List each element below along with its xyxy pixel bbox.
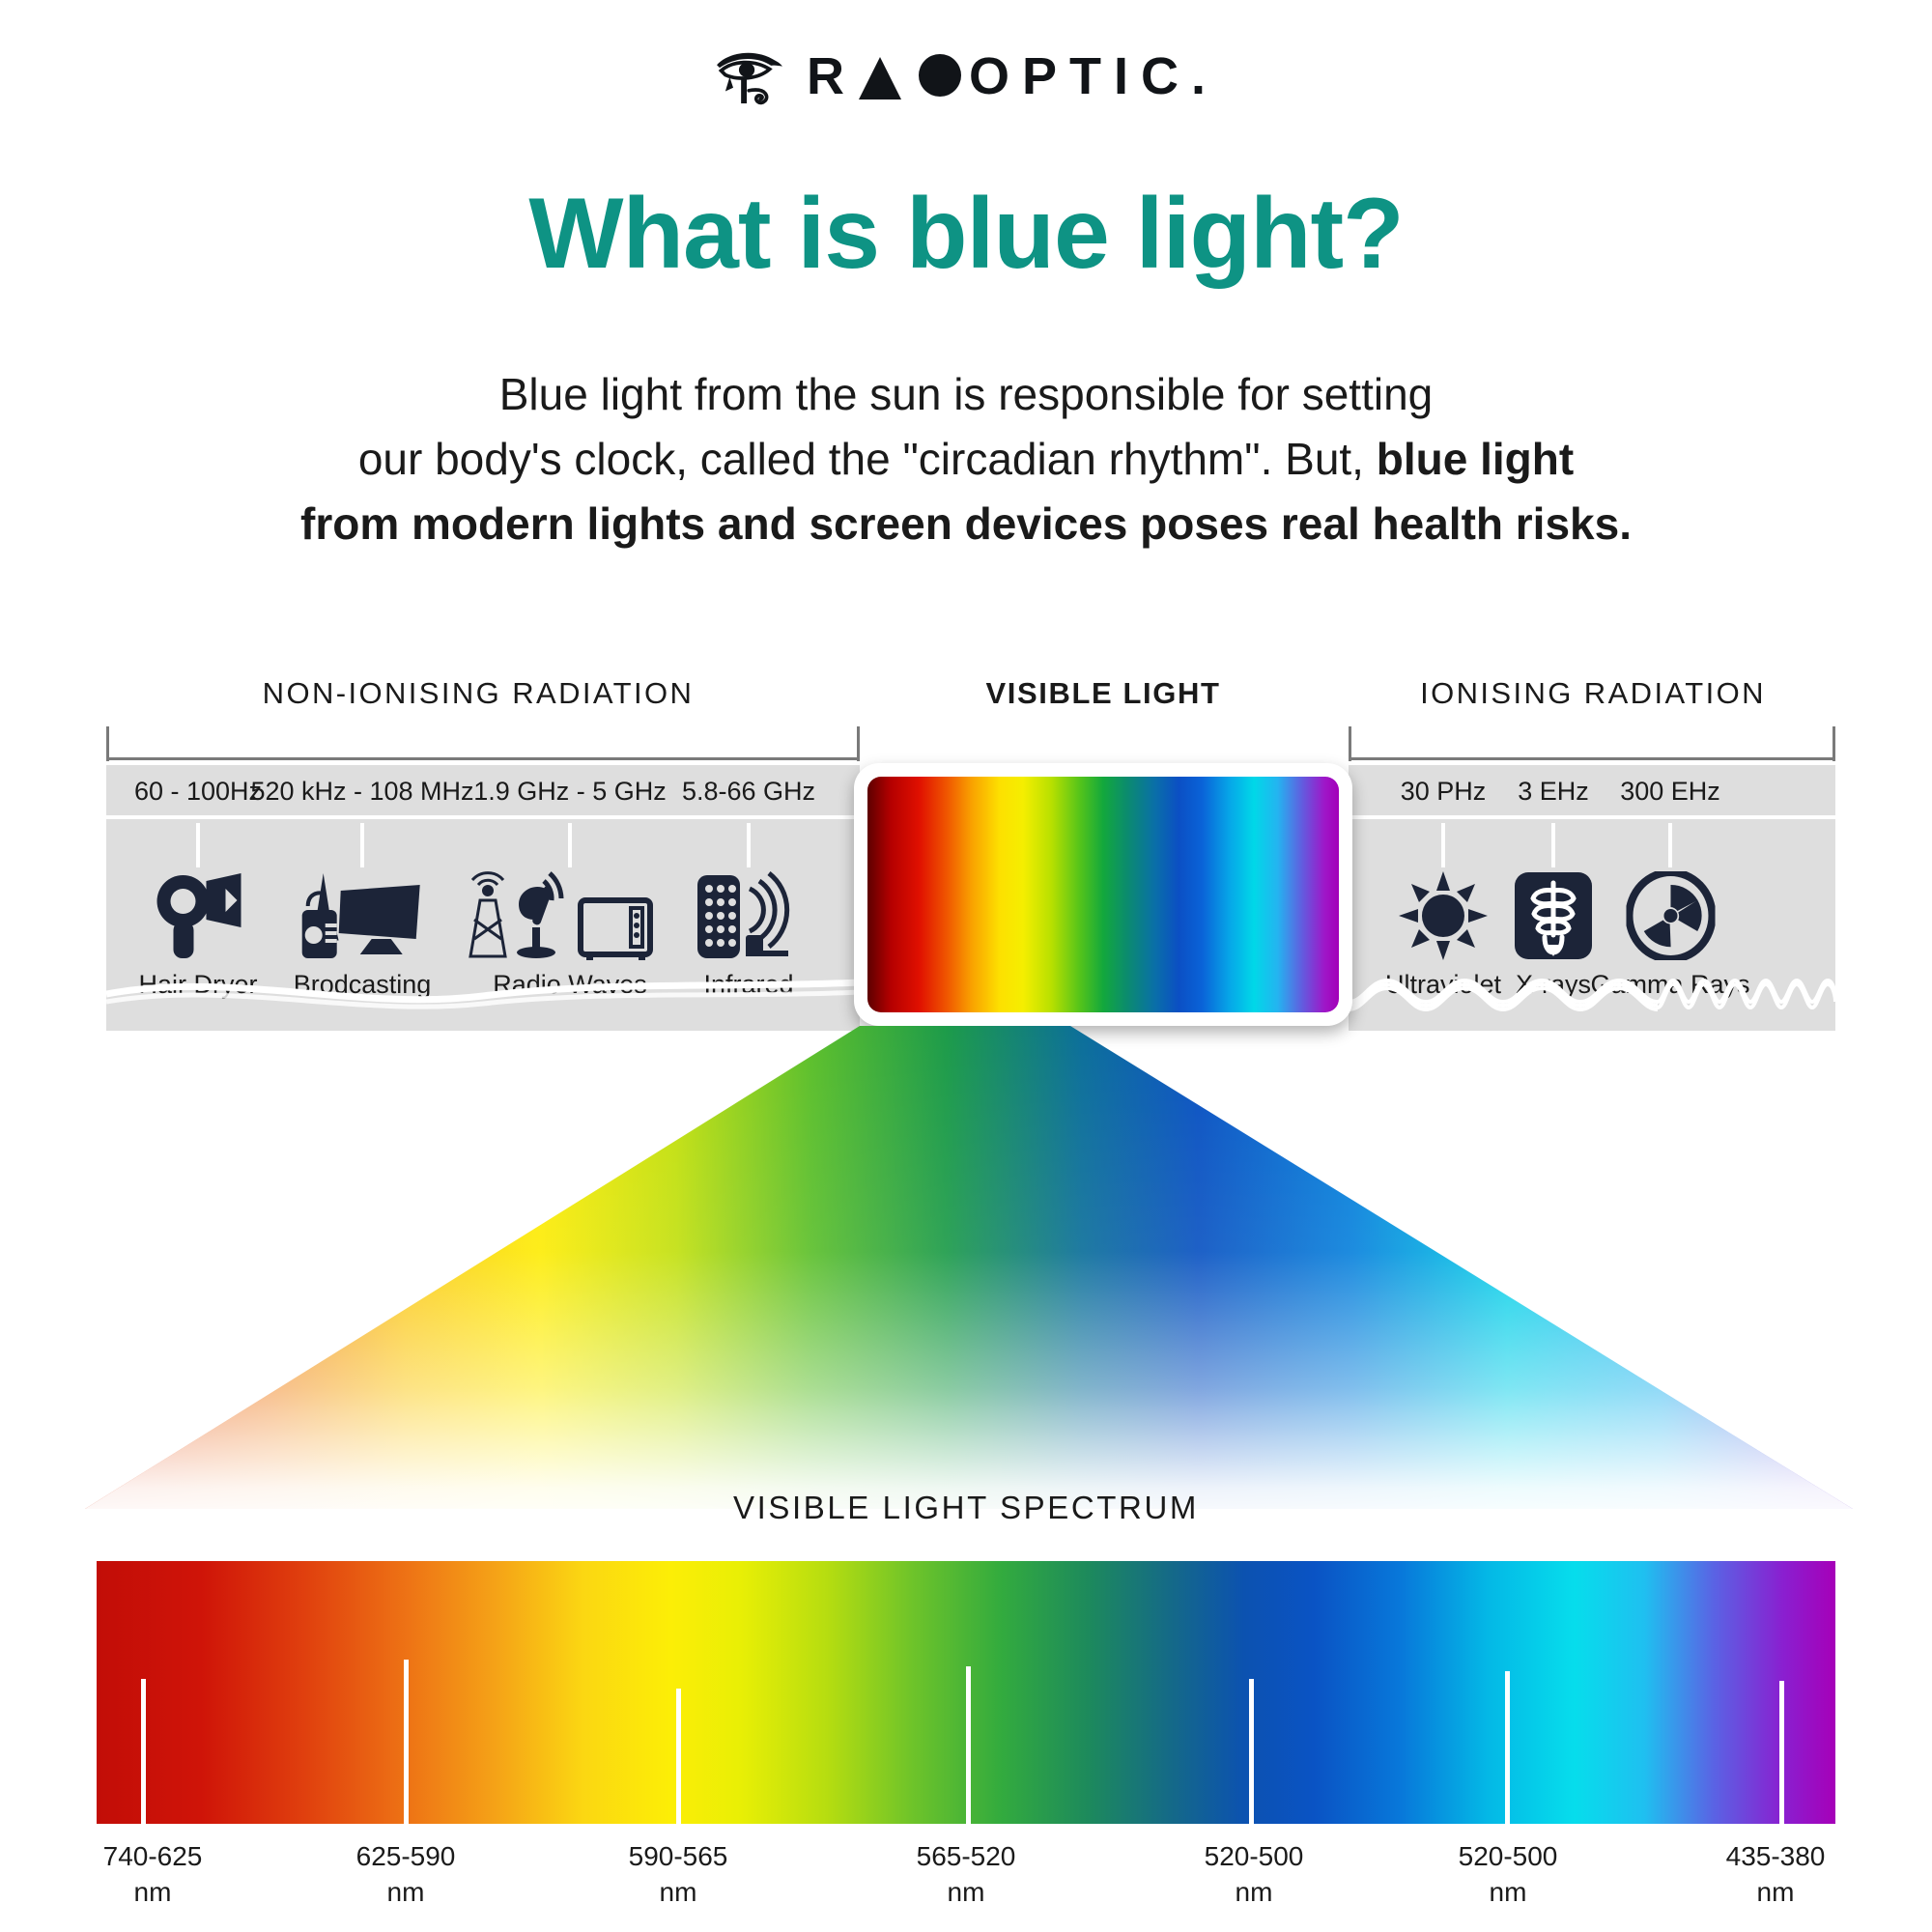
subtitle-line-3: from modern lights and screen devices po… bbox=[300, 498, 1632, 549]
wavelength-unit: nm bbox=[948, 1877, 985, 1907]
brand-logo: ROPTIC. bbox=[0, 46, 1932, 106]
subtitle-line-2b: blue light bbox=[1377, 434, 1574, 484]
brand-name-part2: OPTIC bbox=[969, 50, 1191, 102]
circle-o-icon bbox=[919, 54, 961, 97]
visible-spectrum-title: VISIBLE LIGHT SPECTRUM bbox=[0, 1490, 1932, 1526]
wavelength-range: 590-565 bbox=[629, 1841, 728, 1871]
eye-of-horus-icon bbox=[714, 46, 785, 106]
wavelength-label-5: 520-500nm bbox=[1459, 1839, 1558, 1911]
subtitle-line-1: Blue light from the sun is responsible f… bbox=[499, 369, 1434, 419]
wavelength-unit: nm bbox=[660, 1877, 697, 1907]
hair-dryer-icon bbox=[138, 871, 257, 960]
frequency-label-radio-waves: 1.9 GHz - 5 GHz bbox=[473, 777, 667, 807]
visible-spectrum-bar bbox=[97, 1561, 1835, 1824]
wavelength-label-4: 520-500nm bbox=[1205, 1839, 1304, 1911]
category-label-non-ionising: NON-IONISING RADIATION bbox=[97, 676, 860, 711]
radioactive-icon bbox=[1590, 871, 1749, 960]
wavelength-label-0: 740-625nm bbox=[103, 1839, 203, 1911]
wavelength-range: 520-500 bbox=[1459, 1841, 1558, 1871]
wavelength-range: 520-500 bbox=[1205, 1841, 1304, 1871]
frequency-label-infrared: 5.8-66 GHz bbox=[682, 777, 815, 807]
wavelength-range: 565-520 bbox=[917, 1841, 1016, 1871]
category-label-ionising: IONISING RADIATION bbox=[1350, 676, 1835, 711]
wavelength-range: 740-625 bbox=[103, 1841, 203, 1871]
wavelength-label-6: 435-380nm bbox=[1726, 1839, 1826, 1911]
spectrum-tick bbox=[404, 1660, 409, 1824]
prism-beam bbox=[0, 1026, 1932, 1528]
frequency-label-ultraviolet: 30 PHz bbox=[1401, 777, 1487, 807]
radio-antenna-satellite-microwave-icon bbox=[459, 871, 681, 960]
spectrum-tick bbox=[1249, 1679, 1254, 1824]
non-ionising-panel: 60 - 100Hz 520 kHz - 108 MHz 1.9 GHz - 5… bbox=[106, 765, 860, 1031]
spectrum-tick bbox=[676, 1689, 681, 1824]
wavelength-range: 435-380 bbox=[1726, 1841, 1826, 1871]
category-label-visible-light: VISIBLE LIGHT bbox=[854, 676, 1352, 711]
visible-light-card bbox=[854, 763, 1352, 1026]
wavelength-label-2: 590-565nm bbox=[629, 1839, 728, 1911]
spectrum-tick bbox=[1779, 1681, 1784, 1824]
non-ionising-frequency-strip: 60 - 100Hz 520 kHz - 108 MHz 1.9 GHz - 5… bbox=[106, 765, 860, 819]
short-wavelength-wave-icon bbox=[1349, 955, 1835, 1023]
sun-icon bbox=[1385, 871, 1501, 960]
remote-control-icon bbox=[692, 871, 806, 960]
frequency-label-hair-dryer: 60 - 100Hz bbox=[134, 777, 262, 807]
frequency-label-gamma-rays: 300 EHz bbox=[1620, 777, 1720, 807]
triangle-a-icon bbox=[859, 57, 901, 99]
spectrum-tick bbox=[966, 1666, 971, 1824]
wavelength-label-1: 625-590nm bbox=[356, 1839, 456, 1911]
wavelength-unit: nm bbox=[1236, 1877, 1273, 1907]
page-title: What is blue light? bbox=[0, 184, 1932, 284]
bracket-ionising bbox=[1349, 726, 1835, 761]
long-wavelength-wave-icon bbox=[106, 955, 860, 1023]
wavelength-unit: nm bbox=[1490, 1877, 1527, 1907]
wavelength-label-3: 565-520nm bbox=[917, 1839, 1016, 1911]
bracket-non-ionising bbox=[106, 726, 860, 761]
frequency-label-broadcasting: 520 kHz - 108 MHz bbox=[250, 777, 473, 807]
subtitle-line-2a: our body's clock, called the "circadian … bbox=[358, 434, 1377, 484]
wavelength-unit: nm bbox=[1757, 1877, 1795, 1907]
spectrum-tick bbox=[1505, 1671, 1510, 1824]
xray-spine-icon bbox=[1512, 871, 1595, 960]
brand-name-part2-o bbox=[913, 50, 969, 102]
brand-wordmark: ROPTIC. bbox=[807, 50, 1218, 102]
wavelength-unit: nm bbox=[134, 1877, 172, 1907]
brand-name-part1: R bbox=[807, 50, 857, 102]
wavelength-range: 625-590 bbox=[356, 1841, 456, 1871]
broadcast-tower-tv-icon bbox=[294, 871, 432, 960]
ionising-frequency-strip: 30 PHz 3 EHz 300 EHz bbox=[1349, 765, 1835, 819]
ionising-panel: 30 PHz 3 EHz 300 EHz Ultraviolet bbox=[1349, 765, 1835, 1031]
brand-name-part3: . bbox=[1191, 50, 1218, 102]
visible-light-gradient bbox=[867, 777, 1339, 1012]
wavelength-unit: nm bbox=[387, 1877, 425, 1907]
page-subtitle: Blue light from the sun is responsible f… bbox=[0, 362, 1932, 556]
frequency-label-xrays: 3 EHz bbox=[1518, 777, 1589, 807]
spectrum-tick bbox=[141, 1679, 146, 1824]
